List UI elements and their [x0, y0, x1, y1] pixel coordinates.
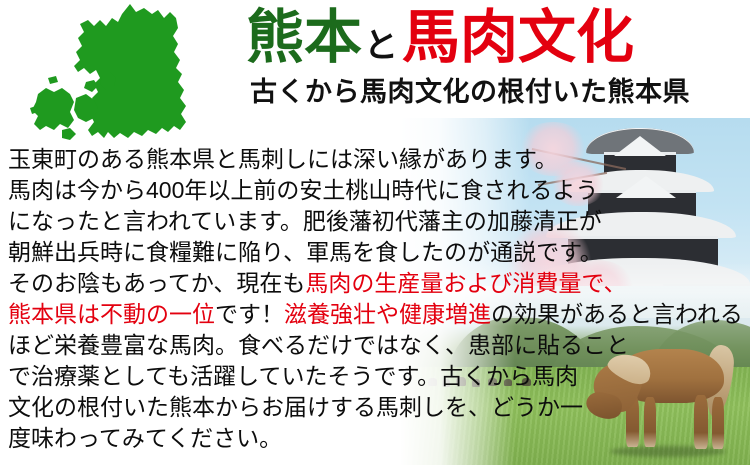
title-conjunction: と: [362, 16, 402, 78]
body-line: 馬肉は今から400年以上前の安土桃山時代に食されるよう: [8, 175, 750, 206]
body-line: 玉東町のある熊本県と馬刺しには深い縁があります。: [8, 144, 750, 175]
body-text-segment: になったと言われています。肥後藩初代藩主の加藤清正が: [8, 208, 602, 234]
kumamoto-map-icon: [18, 2, 204, 142]
body-text-segment: です！: [215, 301, 284, 327]
banner-title: 熊本 と 馬肉文化: [246, 7, 634, 79]
body-line: 朝鮮出兵時に食糧難に陥り、軍馬を食したのが通説です。: [8, 237, 750, 268]
body-text-segment: 度味わってみてください。: [8, 425, 282, 451]
title-green-text: 熊本: [246, 7, 362, 69]
body-text-segment: そのお陰もあってか、現在も: [8, 270, 305, 296]
body-text-segment: の効果があると言われる: [491, 301, 743, 327]
title-red-text: 馬肉文化: [402, 7, 634, 69]
body-text-segment: 朝鮮出兵時に食糧難に陥り、軍馬を食したのが通説です。: [8, 239, 603, 265]
body-line: 度味わってみてください。: [8, 423, 750, 454]
emphasis-text: 馬肉の生産量および消費量で、: [305, 270, 626, 296]
body-line: そのお陰もあってか、現在も馬肉の生産量および消費量で、: [8, 268, 750, 299]
emphasis-text: 滋養強壮や健康増進: [284, 301, 491, 327]
body-paragraph: 玉東町のある熊本県と馬刺しには深い縁があります。馬肉は今から400年以上前の安土…: [8, 144, 750, 454]
banner-subtitle: 古くから馬肉文化の根付いた熊本県: [250, 76, 690, 108]
emphasis-text: 熊本県は不動の一位: [8, 301, 215, 327]
body-text-segment: 文化の根付いた熊本からお届けする馬刺しを、どうか一: [8, 394, 583, 420]
body-line: 文化の根付いた熊本からお届けする馬刺しを、どうか一: [8, 392, 750, 423]
body-line: 熊本県は不動の一位です！滋養強壮や健康増進の効果があると言われる: [8, 299, 750, 330]
body-text-segment: ほど栄養豊富な馬肉。食べるだけではなく、患部に貼ること: [8, 332, 629, 358]
body-line: になったと言われています。肥後藩初代藩主の加藤清正が: [8, 206, 750, 237]
body-line: で治療薬としても活躍していたそうです。古くから馬肉: [8, 361, 750, 392]
body-text-segment: 玉東町のある熊本県と馬刺しには深い縁があります。: [8, 146, 558, 172]
promo-banner: 熊本 と 馬肉文化 古くから馬肉文化の根付いた熊本県 玉東町のある熊本県と馬刺し…: [0, 0, 750, 465]
body-text-segment: で治療薬としても活躍していたそうです。古くから馬肉: [8, 363, 578, 389]
body-text-segment: 馬肉は今から400年以上前の安土桃山時代に食されるよう: [8, 177, 598, 203]
body-line: ほど栄養豊富な馬肉。食べるだけではなく、患部に貼ること: [8, 330, 750, 361]
